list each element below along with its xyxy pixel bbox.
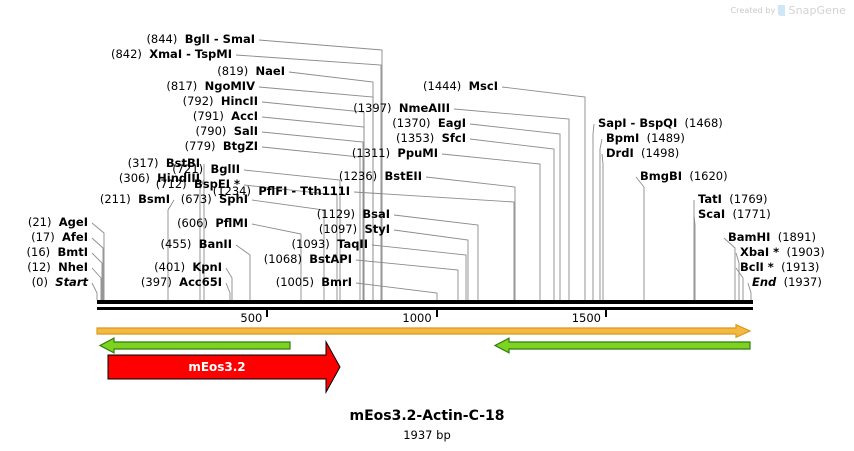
feature-label: mEos3.2 <box>108 360 326 374</box>
sequence-map: Created by SnapGene (0) Start(12) NheI(1… <box>0 0 854 451</box>
feature-arrow[interactable] <box>97 325 750 338</box>
page-title: mEos3.2-Actin-C-18 <box>0 408 854 424</box>
feature-arrows <box>0 0 854 451</box>
feature-arrow[interactable] <box>100 338 290 353</box>
feature-arrow[interactable] <box>495 338 750 353</box>
page-subtitle: 1937 bp <box>0 428 854 442</box>
